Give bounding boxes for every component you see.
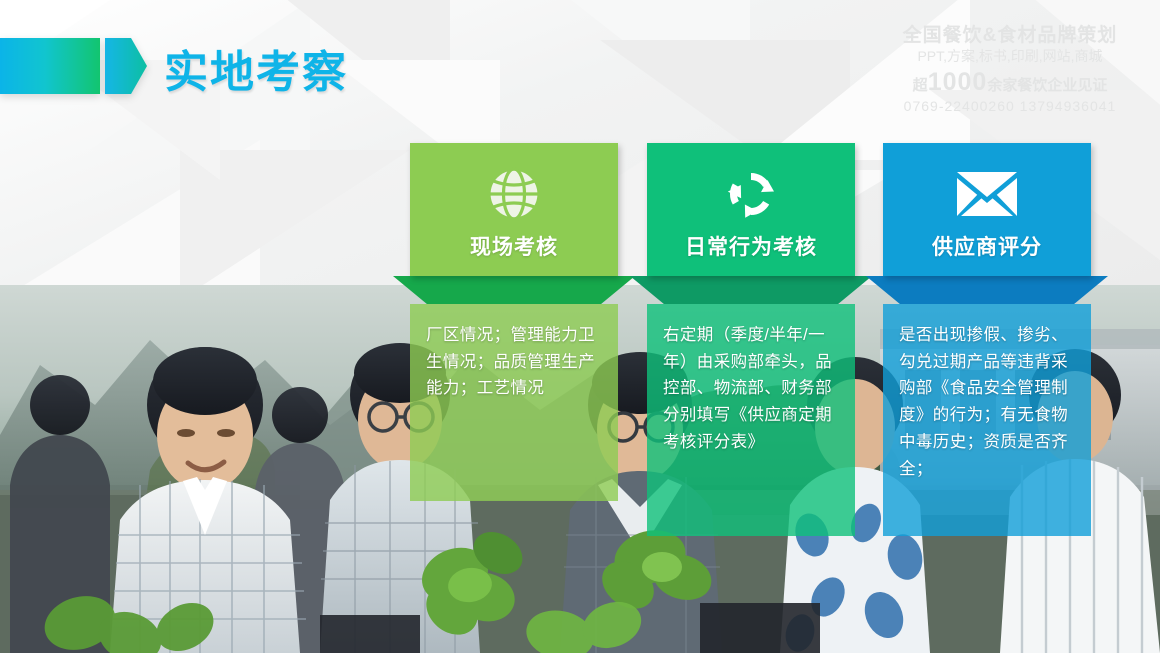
panel-site-inspection: 厂区情况；管理能力卫生情况；品质管理生产能力；工艺情况: [410, 304, 618, 501]
card-fold-supplier-rating: [866, 276, 1108, 304]
panel-text-supplier-rating: 是否出现掺假、掺劣、勾兑过期产品等违背采购部《食品安全管理制度》的行为；有无食物…: [899, 322, 1075, 482]
feature-column-supplier-rating: 供应商评分 是否出现掺假、掺劣、勾兑过期产品等违背采购部《食品安全管理制度》的行…: [883, 143, 1091, 536]
watermark-line-1: 全国餐饮&食材品牌策划: [878, 24, 1142, 48]
card-site-inspection[interactable]: 现场考核: [410, 143, 618, 276]
card-title-daily-behavior: 日常行为考核: [647, 231, 855, 261]
watermark-line-3-number: 1000: [928, 68, 988, 96]
panel-supplier-rating: 是否出现掺假、掺劣、勾兑过期产品等违背采购部《食品安全管理制度》的行为；有无食物…: [883, 304, 1091, 536]
card-fold-daily-behavior: [630, 276, 872, 304]
watermark-line-3-prefix: 超: [913, 77, 928, 94]
ribbon-arrow-icon: [105, 38, 147, 94]
feature-column-daily-behavior: 日常行为考核 右定期（季度/半年/一年）由采购部牵头，品控部、物流部、财务部分别…: [647, 143, 855, 536]
recycle-icon: [647, 165, 855, 223]
watermark: 全国餐饮&食材品牌策划 PPT,方案,标书,印刷,网站,商城 超1000余家餐饮…: [878, 24, 1142, 116]
panel-text-site-inspection: 厂区情况；管理能力卫生情况；品质管理生产能力；工艺情况: [426, 322, 602, 402]
feature-column-site-inspection: 现场考核 厂区情况；管理能力卫生情况；品质管理生产能力；工艺情况: [410, 143, 618, 501]
card-title-supplier-rating: 供应商评分: [883, 231, 1091, 261]
ribbon-gap: [100, 38, 105, 94]
watermark-line-3: 超1000余家餐饮企业见证: [878, 66, 1142, 98]
card-daily-behavior[interactable]: 日常行为考核: [647, 143, 855, 276]
panel-daily-behavior: 右定期（季度/半年/一年）由采购部牵头，品控部、物流部、财务部分别填写《供应商定…: [647, 304, 855, 536]
globe-icon: [410, 165, 618, 223]
panel-text-daily-behavior: 右定期（季度/半年/一年）由采购部牵头，品控部、物流部、财务部分别填写《供应商定…: [663, 322, 839, 456]
slide-root: 实地考察 全国餐饮&食材品牌策划 PPT,方案,标书,印刷,网站,商城 超100…: [0, 0, 1160, 653]
envelope-icon: [883, 165, 1091, 223]
watermark-line-4: 0769-22400260 13794936041: [878, 98, 1142, 116]
page-title: 实地考察: [164, 36, 348, 100]
card-title-site-inspection: 现场考核: [410, 231, 618, 261]
header-ribbon: [0, 38, 147, 94]
card-fold-site-inspection: [393, 276, 635, 304]
watermark-line-3-suffix: 余家餐饮企业见证: [987, 77, 1107, 94]
watermark-line-2: PPT,方案,标书,印刷,网站,商城: [878, 48, 1142, 66]
ribbon-bar-shape: [0, 38, 100, 94]
card-supplier-rating[interactable]: 供应商评分: [883, 143, 1091, 276]
